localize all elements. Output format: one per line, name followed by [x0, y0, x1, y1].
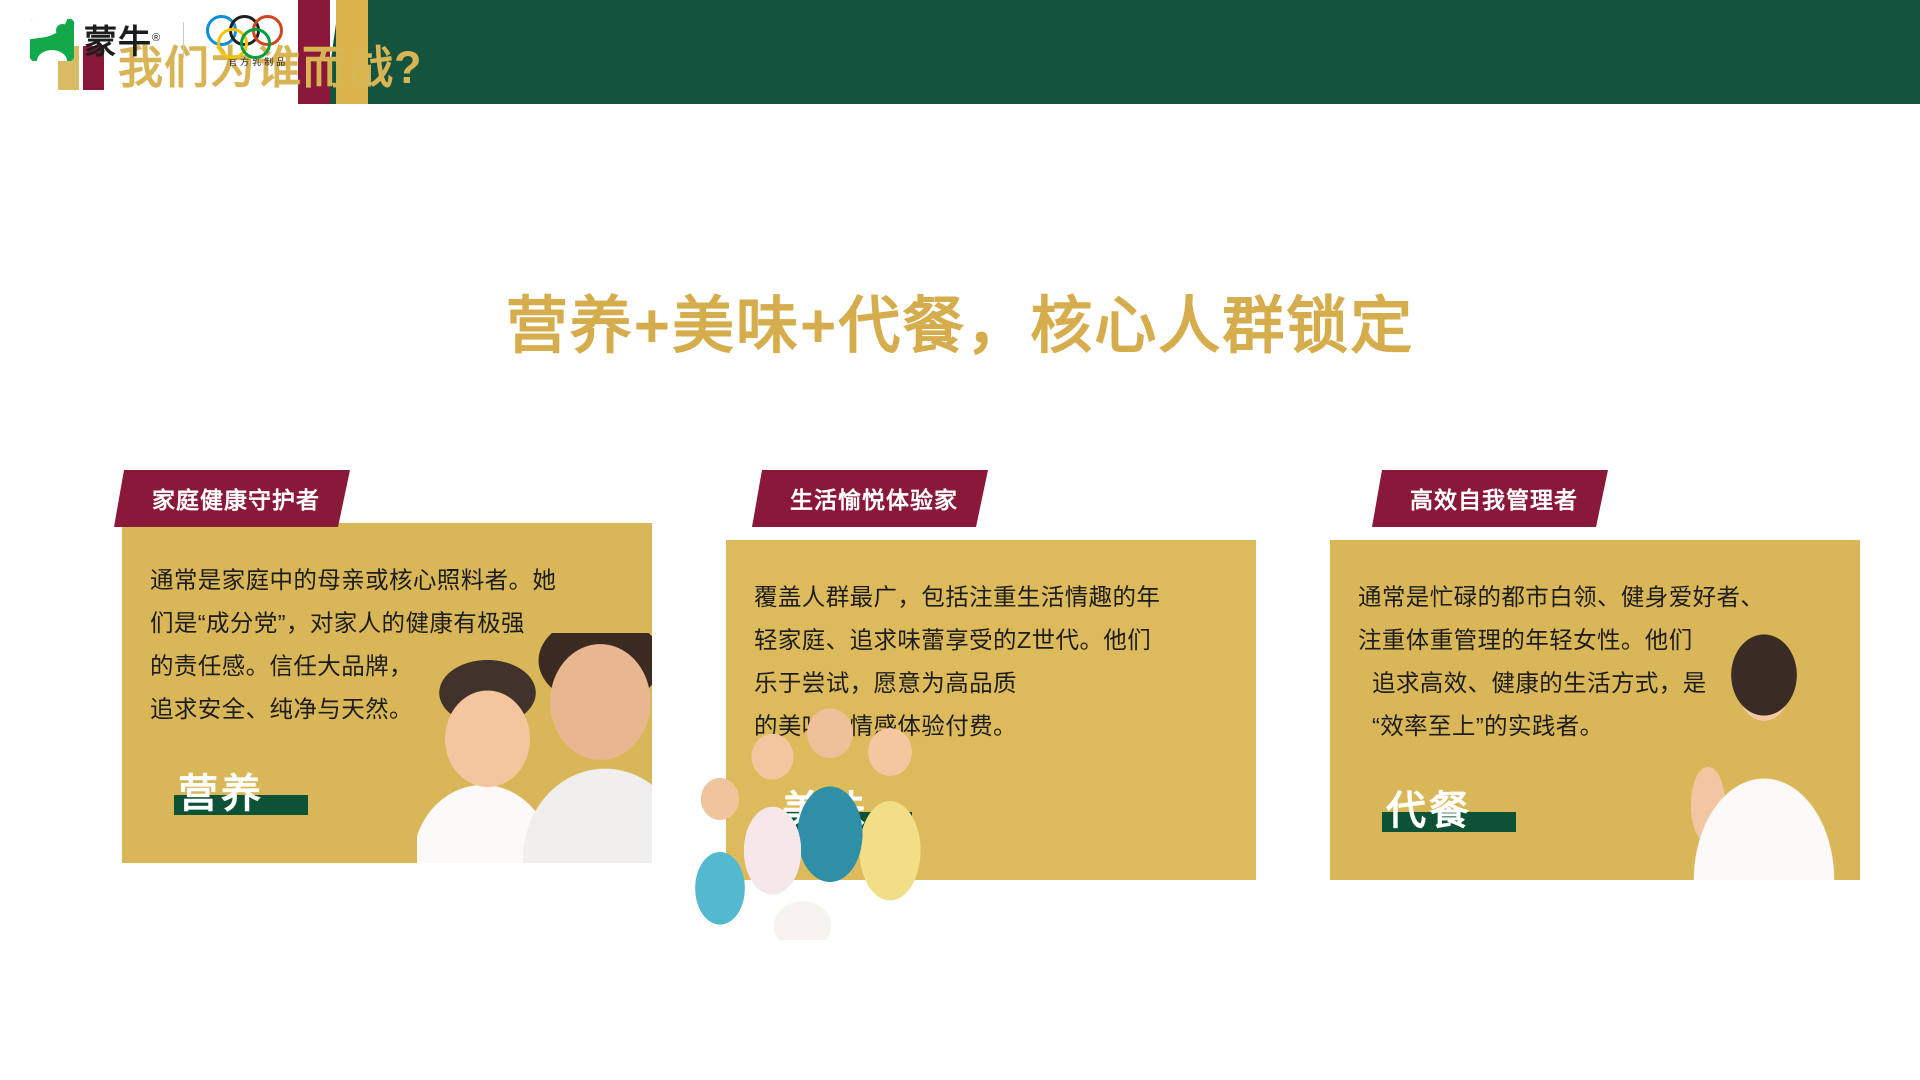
brand-name-text: 蒙牛 — [84, 23, 152, 60]
slide-root: 蒙牛® 官方乳制品 我们为谁而战? 营养+美味+代餐，核心人群锁定 家庭健康守护… — [0, 0, 1920, 1080]
persona-badge: 生活愉悦体验家 — [752, 470, 988, 527]
persona-description: 通常是忙碌的都市白领、健身爱好者、 注重体重管理的年轻女性。他们 追求高效、健康… — [1330, 540, 1860, 748]
persona-tag: 营养 — [174, 771, 264, 817]
persona-description-line: 覆盖人群最广，包括注重生活情趣的年 — [754, 576, 1228, 619]
olympic-logo-group: 官方乳制品 — [206, 12, 310, 68]
persona-description-line: 追求安全、纯净与天然。 — [150, 688, 624, 731]
logo-dot-icon — [56, 24, 69, 37]
page-title: 营养+美味+代餐，核心人群锁定 — [0, 275, 1920, 365]
persona-badge: 高效自我管理者 — [1372, 470, 1608, 527]
brand-name: 蒙牛® — [84, 17, 161, 63]
persona-card[interactable]: 生活愉悦体验家 覆盖人群最广，包括注重生活情趣的年 轻家庭、追求味蕾享受的Z世代… — [726, 470, 1256, 880]
persona-description-line: 通常是忙碌的都市白领、健身爱好者、 — [1358, 576, 1832, 619]
persona-description: 覆盖人群最广，包括注重生活情趣的年 轻家庭、追求味蕾享受的Z世代。他们 乐于尝试… — [726, 540, 1256, 748]
mengniu-logo-icon — [30, 19, 74, 61]
persona-card[interactable]: 家庭健康守护者 通常是家庭中的母亲或核心照料者。她 们是“成分党”，对家人的健康… — [122, 470, 652, 863]
persona-tag-label: 营养 — [174, 772, 264, 816]
persona-description-line: 的责任感。信任大品牌， — [150, 645, 624, 688]
persona-description-line: 的美味和情感体验付费。 — [754, 705, 1228, 748]
persona-description-line: 们是“成分党”，对家人的健康有极强 — [150, 602, 624, 645]
persona-description-line: 追求高效、健康的生活方式，是 — [1358, 662, 1832, 705]
persona-card[interactable]: 高效自我管理者 通常是忙碌的都市白领、健身爱好者、 注重体重管理的年轻女性。他们… — [1330, 470, 1860, 880]
persona-description-line: 注重体重管理的年轻女性。他们 — [1358, 619, 1832, 662]
persona-card-body: 覆盖人群最广，包括注重生活情趣的年 轻家庭、追求味蕾享受的Z世代。他们 乐于尝试… — [726, 540, 1256, 880]
persona-description-line: 通常是家庭中的母亲或核心照料者。她 — [150, 559, 624, 602]
brand-logo-group: 蒙牛® 官方乳制品 — [30, 12, 310, 68]
persona-tag-label: 代餐 — [1382, 789, 1472, 833]
persona-card-body: 通常是忙碌的都市白领、健身爱好者、 注重体重管理的年轻女性。他们 追求高效、健康… — [1330, 540, 1860, 880]
persona-description: 通常是家庭中的母亲或核心照料者。她 们是“成分党”，对家人的健康有极强 的责任感… — [122, 523, 652, 731]
persona-description-line: “效率至上”的实践者。 — [1358, 705, 1832, 748]
registered-mark-icon: ® — [152, 32, 161, 44]
persona-tag: 美味 — [778, 788, 868, 834]
persona-description-line: 轻家庭、追求味蕾享受的Z世代。他们 — [754, 619, 1228, 662]
persona-tag: 代餐 — [1382, 788, 1472, 834]
persona-badge: 家庭健康守护者 — [114, 470, 350, 527]
olympic-rings-icon — [206, 12, 310, 54]
logo-divider — [183, 22, 184, 58]
persona-description-line: 乐于尝试，愿意为高品质 — [754, 662, 1228, 705]
olympic-ring-green-icon — [240, 28, 271, 59]
persona-card-list: 家庭健康守护者 通常是家庭中的母亲或核心照料者。她 们是“成分党”，对家人的健康… — [0, 470, 1920, 910]
persona-tag-label: 美味 — [778, 789, 868, 833]
persona-card-body: 通常是家庭中的母亲或核心照料者。她 们是“成分党”，对家人的健康有极强 的责任感… — [122, 523, 652, 863]
